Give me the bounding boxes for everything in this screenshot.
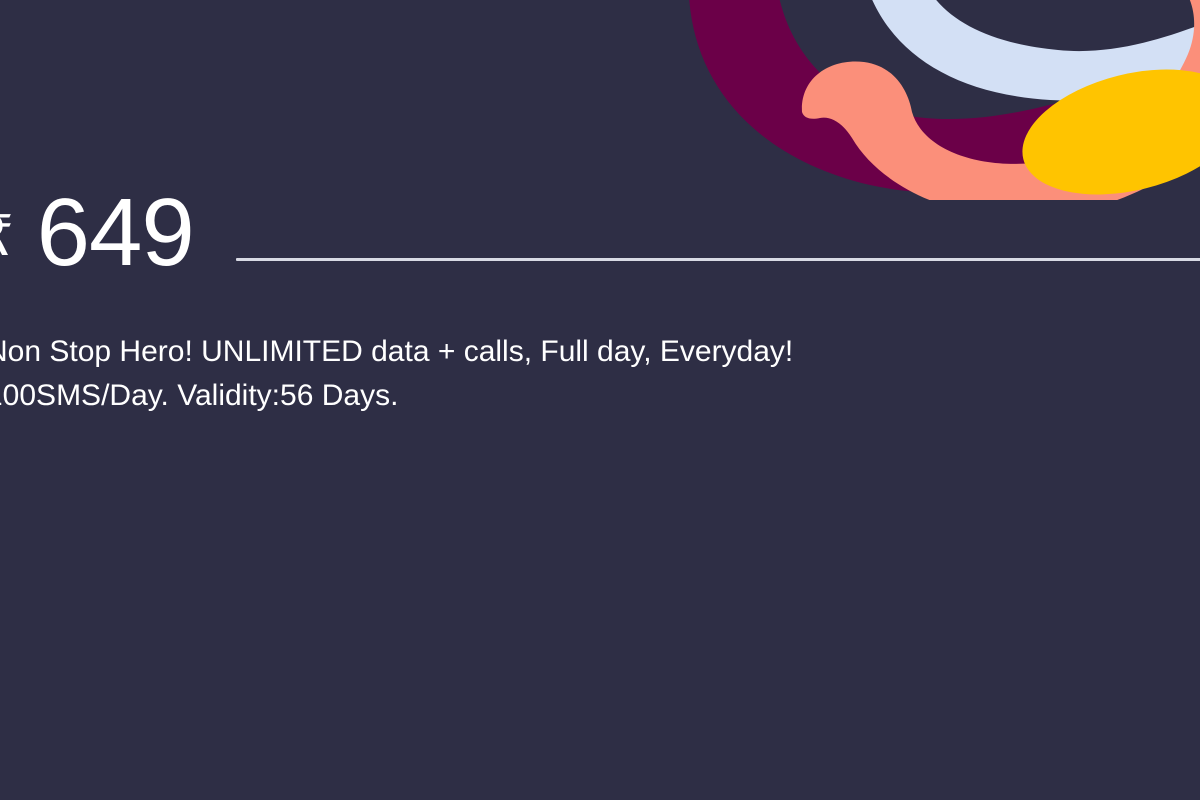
light-blue-ribbon-shape (857, 0, 1200, 101)
purple-ribbon-shape (689, 0, 1200, 193)
plan-description-text: Non Stop Hero! UNLIMITED data + calls, F… (0, 330, 1106, 418)
price-divider-rule (236, 258, 1200, 261)
price-amount: 649 (37, 185, 194, 281)
price-row: ₹ 649 (0, 178, 1200, 288)
salmon-ribbon-shape (802, 0, 1200, 200)
swirl-ribbons-artwork (680, 0, 1200, 200)
recharge-plan-card: ₹ 649 Non Stop Hero! UNLIMITED data + ca… (0, 0, 1200, 800)
rupee-currency-icon: ₹ (0, 202, 13, 264)
